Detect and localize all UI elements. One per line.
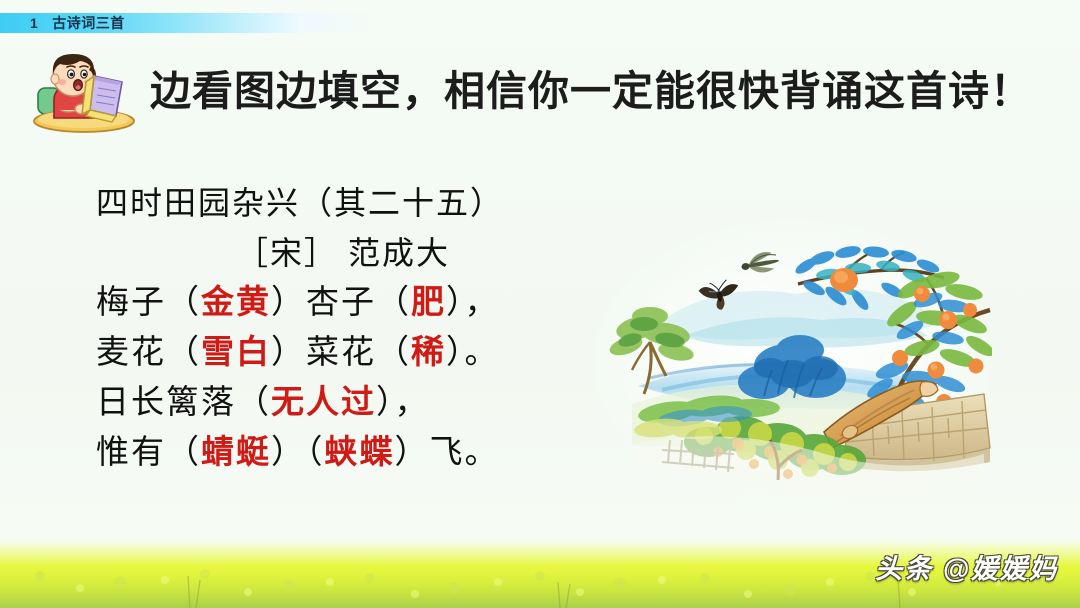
poem-static-text: 飞。 [430, 435, 500, 471]
poem-static-text: 菜花 [306, 335, 376, 371]
poem-verse-line-1: 梅子（金黄）杏子（肥）， [96, 278, 576, 328]
poem-static-text: （ [166, 335, 201, 371]
lesson-number: 1 [30, 15, 38, 31]
lesson-title: 古诗词三首 [52, 13, 125, 33]
poem-verse-line-4: 惟有（蜻蜓）（蛱蝶）飞。 [96, 428, 576, 478]
poem-static-text: ） [271, 335, 306, 371]
slide-canvas: 1 古诗词三首 [0, 0, 1080, 608]
poem-static-text: 麦花 [96, 335, 166, 371]
poem-answer-text: 雪白 [201, 335, 271, 371]
poem-title: 四时田园杂兴（其二十五） [96, 178, 576, 228]
poem-static-text: ） [446, 285, 465, 321]
poem-answer-text: 蛱蝶 [325, 435, 395, 471]
poem-verse-line-3: 日长篱落（无人过）， [96, 378, 576, 428]
watermark-text: 头条 @媛媛妈 [875, 547, 1058, 586]
poem-answer-text: 肥 [411, 285, 446, 321]
poem-static-text: （ [166, 285, 201, 321]
page-title: 边看图边填空，相信你一定能很快背诵这首诗！ [150, 62, 1060, 120]
poem-static-text: 惟有 [96, 435, 166, 471]
poem-verse-line-2: 麦花（雪白）菜花（稀）。 [96, 328, 576, 378]
poem-answer-text: 蜻蜓 [201, 435, 271, 471]
breadcrumb: 1 古诗词三首 [30, 12, 125, 34]
poem-static-text: ） [271, 435, 306, 471]
poem-static-text: （ [166, 435, 201, 471]
poem-static-text: ） [446, 335, 465, 371]
poem-block: 四时田园杂兴（其二十五） ［宋］ 范成大 梅子（金黄）杏子（肥）， 麦花（雪白）… [96, 178, 576, 478]
poem-static-text: 。 [465, 335, 500, 371]
boy-reading-icon [24, 52, 148, 136]
poem-static-text: ， [395, 385, 430, 421]
poem-static-text: （ [236, 385, 271, 421]
poem-static-text: ） [376, 385, 395, 421]
poem-static-text: ， [465, 285, 500, 321]
poem-answer-text: 稀 [411, 335, 446, 371]
header-gradient-band [0, 13, 1080, 33]
poem-answer-text: 无人过 [271, 385, 376, 421]
poem-static-text: （ [376, 335, 411, 371]
poem-answer-text: 金黄 [201, 285, 271, 321]
poem-static-text: （ [376, 285, 411, 321]
poem-static-text: 梅子 [96, 285, 166, 321]
poem-static-text: ） [395, 435, 430, 471]
poem-author: ［宋］ 范成大 [96, 228, 576, 278]
poem-static-text: （ [306, 435, 325, 471]
poem-static-text: ） [271, 285, 306, 321]
poem-static-text: 杏子 [306, 285, 376, 321]
poem-static-text: 日长篱落 [96, 385, 236, 421]
countryside-illustration [592, 218, 992, 508]
